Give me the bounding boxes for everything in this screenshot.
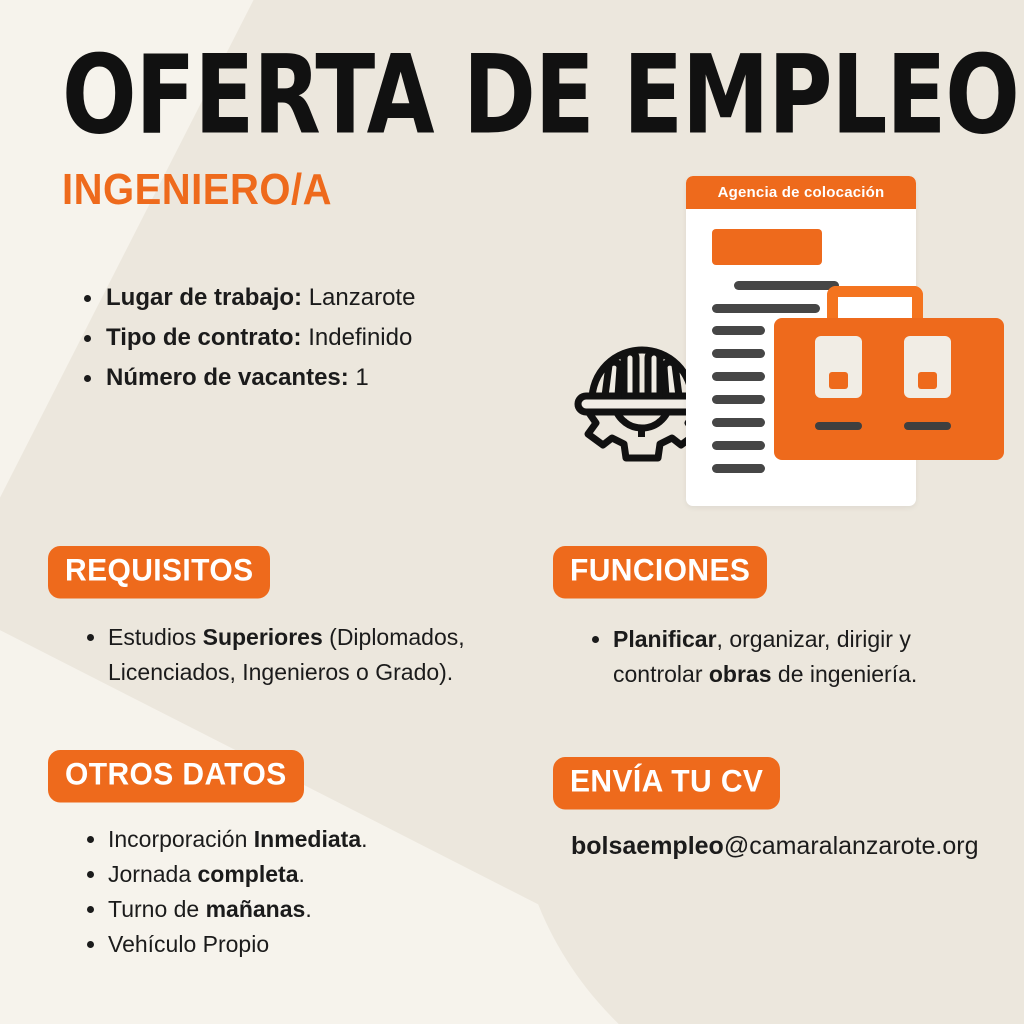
- briefcase-icon: [774, 286, 1004, 486]
- badge-envia-cv: ENVÍA TU CV: [553, 757, 780, 810]
- list-item-text: Turno de: [108, 896, 206, 922]
- list-item-text: Vehículo Propio: [108, 931, 269, 957]
- list-item-emphasis: Superiores: [203, 624, 323, 650]
- list-item: Incorporación Inmediata.: [82, 822, 502, 857]
- badge-otros-datos: OTROS DATOS: [48, 750, 304, 803]
- job-fact-value: 1: [349, 364, 369, 391]
- requisitos-list: Estudios Superiores (Diplomados, Licenci…: [82, 620, 512, 690]
- briefcase-clasp-right: [904, 336, 951, 398]
- email-domain-part: @camaralanzarote.org: [724, 832, 979, 860]
- list-item-text: Estudios: [108, 624, 203, 650]
- list-item-emphasis: obras: [709, 661, 772, 687]
- job-fact-value: Lanzarote: [302, 284, 415, 311]
- document-line: [712, 441, 765, 450]
- section-requisitos: REQUISITOS Estudios Superiores (Diplomad…: [48, 546, 512, 690]
- job-offer-poster: OFERTA DE EMPLEO INGENIERO/A Lugar de tr…: [0, 0, 1024, 1024]
- funciones-list: Planificar, organizar, dirigir y control…: [587, 622, 967, 692]
- job-fact-item: Tipo de contrato: Indefinido: [80, 318, 415, 358]
- briefcase-body: [774, 318, 1004, 460]
- list-item-text: Jornada: [108, 861, 198, 887]
- illustration-group: Agencia de colocación: [556, 168, 1016, 513]
- list-item-emphasis: completa: [198, 861, 299, 887]
- section-envia-cv: ENVÍA TU CV bolsaempleo@camaralanzarote.…: [553, 757, 979, 861]
- list-item-text: .: [299, 861, 305, 887]
- briefcase-handle: [827, 286, 923, 320]
- job-fact-key: Número de vacantes:: [106, 364, 349, 391]
- list-item: Jornada completa.: [82, 857, 502, 892]
- list-item-emphasis: mañanas: [206, 896, 306, 922]
- list-item: Vehículo Propio: [82, 927, 502, 962]
- job-fact-item: Lugar de trabajo: Lanzarote: [80, 278, 415, 318]
- badge-requisitos: REQUISITOS: [48, 546, 270, 599]
- list-item-text: .: [361, 826, 367, 852]
- job-fact-item: Número de vacantes: 1: [80, 358, 415, 398]
- background-curve-shape: [514, 430, 1024, 1024]
- otros-datos-list: Incorporación Inmediata.Jornada completa…: [82, 822, 502, 962]
- section-funciones: FUNCIONES Planificar, organizar, dirigir…: [553, 546, 967, 692]
- job-fact-key: Lugar de trabajo:: [106, 284, 302, 311]
- job-facts-list: Lugar de trabajo: LanzaroteTipo de contr…: [80, 278, 415, 398]
- list-item: Estudios Superiores (Diplomados, Licenci…: [82, 620, 512, 690]
- document-line: [712, 326, 765, 335]
- page-title: OFERTA DE EMPLEO: [62, 44, 1019, 147]
- document-line: [712, 418, 765, 427]
- section-otros-datos: OTROS DATOS Incorporación Inmediata.Jorn…: [48, 750, 502, 962]
- list-item-text: de ingeniería.: [772, 661, 918, 687]
- job-fact-value: Indefinido: [302, 324, 413, 351]
- job-fact-key: Tipo de contrato:: [106, 324, 302, 351]
- document-line: [712, 349, 765, 358]
- document-title-block: [712, 229, 822, 265]
- badge-funciones: FUNCIONES: [553, 546, 767, 599]
- poster-header: OFERTA DE EMPLEO INGENIERO/A: [62, 44, 965, 131]
- agency-label: Agencia de colocación: [686, 176, 916, 209]
- list-item-text: Incorporación: [108, 826, 254, 852]
- page-subtitle: INGENIERO/A: [62, 166, 332, 215]
- document-line: [712, 464, 765, 473]
- list-item-emphasis: Planificar: [613, 626, 717, 652]
- contact-email[interactable]: bolsaempleo@camaralanzarote.org: [571, 832, 979, 861]
- document-line: [712, 395, 765, 404]
- briefcase-clasp-left: [815, 336, 862, 398]
- email-local-part: bolsaempleo: [571, 832, 724, 860]
- briefcase-bar-left: [815, 422, 862, 430]
- list-item: Planificar, organizar, dirigir y control…: [587, 622, 967, 692]
- list-item-emphasis: Inmediata: [254, 826, 361, 852]
- list-item-text: .: [305, 896, 311, 922]
- briefcase-bar-right: [904, 422, 951, 430]
- list-item: Turno de mañanas.: [82, 892, 502, 927]
- document-line: [712, 372, 765, 381]
